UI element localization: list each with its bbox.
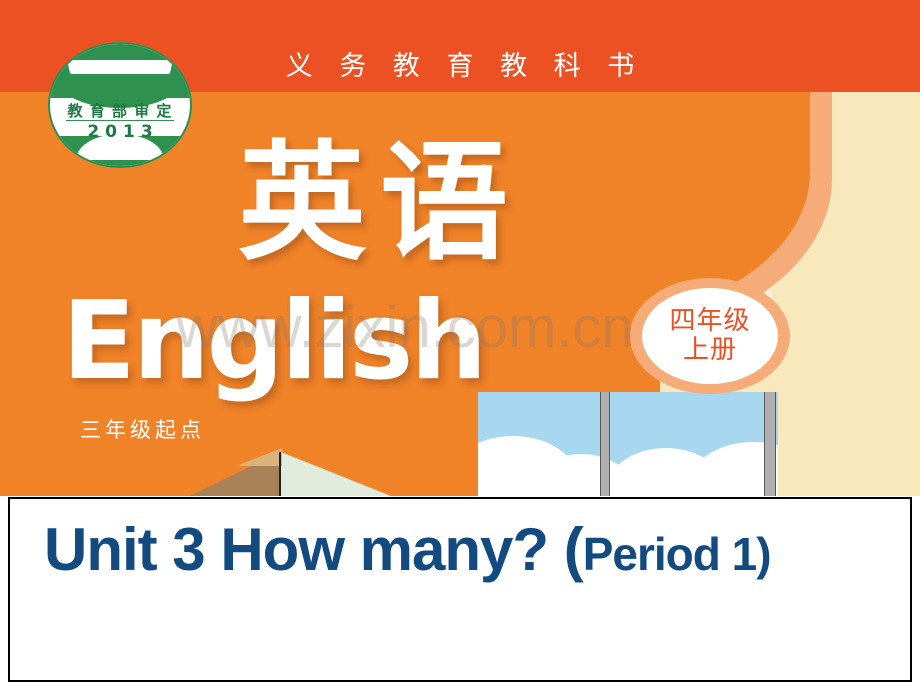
grade-badge-volume: 上册: [683, 336, 737, 365]
slide-content-panel: Unit 3 How many? (Period 1): [8, 497, 912, 682]
seal-divider-rule: [66, 120, 174, 121]
slide-root: 义 务 教 育 教 科 书 教 育 部 审 定 2013 英语 English …: [0, 0, 920, 690]
grade-badge: 四年级 上册: [642, 288, 778, 384]
cover-title-english: English: [62, 288, 484, 396]
cover-title-chinese: 英语: [238, 140, 522, 268]
open-book-sky-illustration: [478, 392, 778, 496]
cover-subtitle-chinese: 三年级起点: [80, 414, 205, 444]
seal-year: 2013: [50, 122, 190, 142]
grade-badge-grade: 四年级: [669, 307, 750, 336]
unit-title-main: Unit 3 How many? (: [44, 516, 583, 583]
textbook-cover-image: 义 务 教 育 教 科 书 教 育 部 审 定 2013 英语 English …: [0, 0, 920, 496]
book-center-spine: [600, 392, 610, 496]
seal-label: 教 育 部 审 定: [50, 100, 190, 121]
book-right-edge: [764, 392, 776, 496]
unit-title-period: Period 1): [583, 528, 771, 580]
unit-title: Unit 3 How many? (Period 1): [44, 515, 771, 584]
hill-divider-line: [279, 452, 281, 496]
approval-seal-icon: 教 育 部 审 定 2013: [48, 42, 192, 168]
